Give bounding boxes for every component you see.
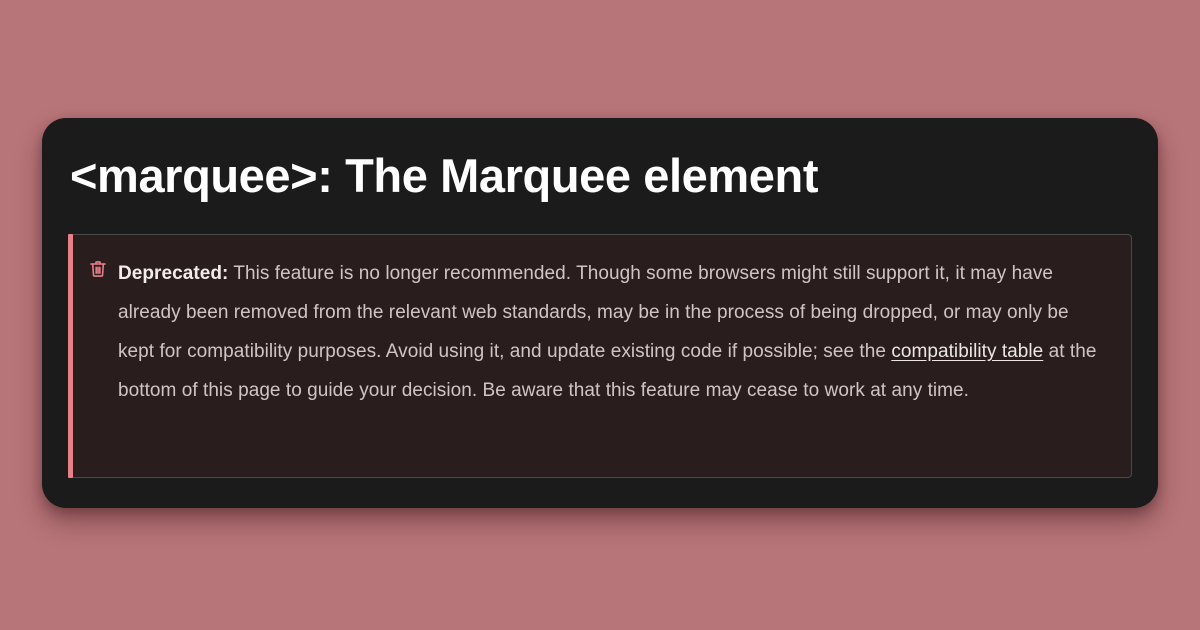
compatibility-table-link[interactable]: compatibility table — [891, 341, 1043, 362]
trash-icon — [88, 259, 108, 279]
page-canvas: <marquee>: The Marquee element Deprecate… — [0, 0, 1200, 630]
banner-accent-bar — [68, 234, 73, 478]
page-title: <marquee>: The Marquee element — [68, 118, 1132, 212]
article-card: <marquee>: The Marquee element Deprecate… — [42, 118, 1158, 508]
deprecated-label: Deprecated: — [118, 263, 228, 284]
deprecated-banner: Deprecated: This feature is no longer re… — [68, 234, 1132, 478]
deprecated-banner-text: Deprecated: This feature is no longer re… — [118, 254, 1103, 410]
